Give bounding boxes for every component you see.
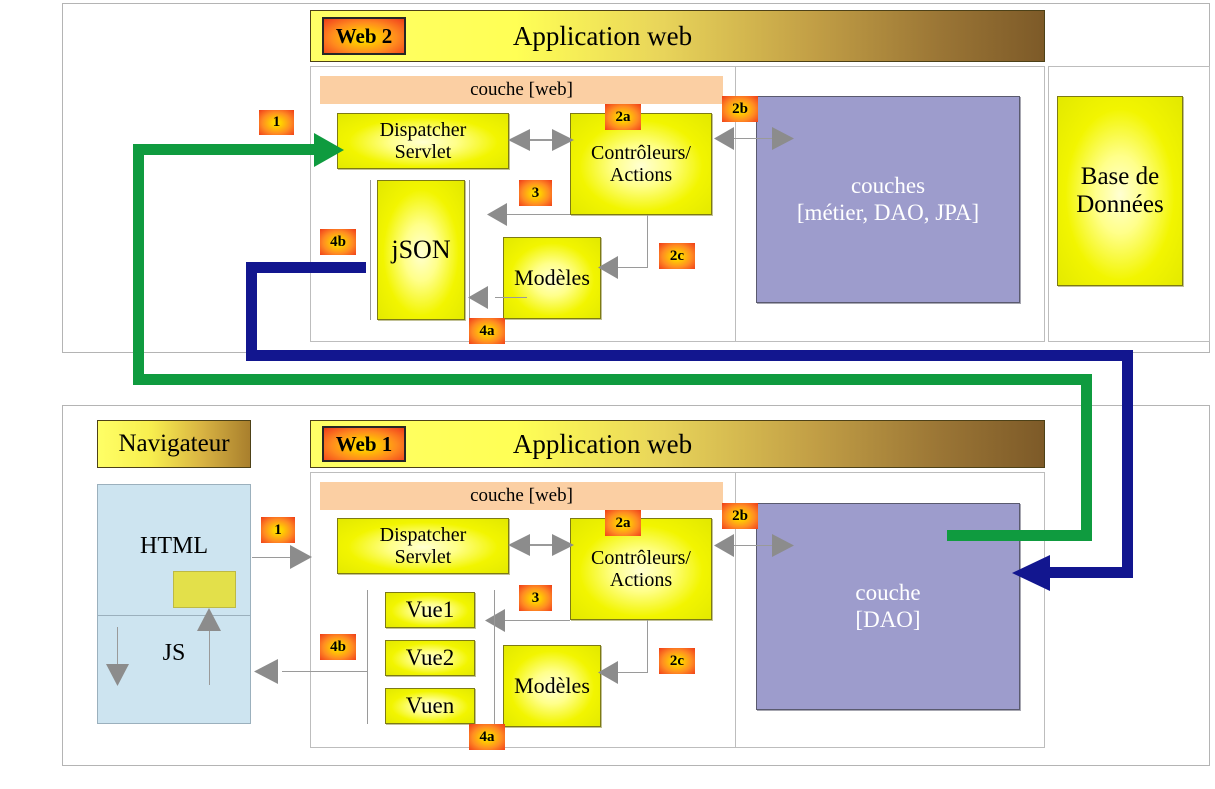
web2-arrowhead-models [598, 256, 618, 279]
web1-arrowhead-dao-right [772, 534, 794, 557]
web2-arrowhead-json-3 [487, 203, 507, 226]
web2-couche-web-bar: couche [web] [320, 76, 723, 104]
web1-app-header: Application web [310, 420, 1045, 468]
browser-inner-yellow-block [173, 571, 236, 608]
web1-badge-3: 3 [519, 585, 552, 611]
browser-divider [98, 615, 250, 616]
web2-conn-to-models [615, 267, 648, 268]
web2-badge-4b: 4b [320, 229, 356, 255]
browser-js-label: JS [98, 640, 250, 667]
web1-conn-controllers-down [647, 620, 648, 673]
green-route-seg-vertical-right [1081, 374, 1092, 540]
web1-dao-line1: couche [855, 580, 920, 606]
web1-arrowhead-models [598, 661, 618, 684]
web2-badge-2b: 2b [722, 96, 758, 122]
web2-controllers-actions: Contrôleurs/ Actions [570, 113, 712, 215]
web1-dispatcher-servlet: Dispatcher Servlet [337, 518, 509, 574]
web1-arrowhead-dispatcher [290, 545, 312, 569]
web1-arrowhead-vues-3 [485, 609, 505, 632]
browser-arrowhead-down-js [106, 664, 129, 686]
browser-html-label: HTML [98, 533, 250, 560]
blue-route-seg-to-dao [1046, 567, 1133, 578]
green-route-seg-horizontal-mid [133, 374, 1092, 385]
web2-badge-2a: 2a [605, 104, 641, 130]
web2-business-layer: couches [métier, DAO, JPA] [756, 96, 1020, 303]
web2-database-line2: Données [1076, 191, 1163, 219]
web2-app-header: Application web [310, 10, 1045, 62]
web2-badge-4a: 4a [469, 318, 505, 344]
web2-conn-models-json [495, 297, 527, 298]
web1-couche-web-bar: couche [web] [320, 482, 723, 510]
web1-tag: Web 1 [322, 426, 406, 462]
web2-tick-json-left [370, 180, 371, 320]
web2-badge-3: 3 [519, 180, 552, 206]
web2-arrowhead-business-right [772, 127, 794, 150]
web2-dispatcher-servlet: Dispatcher Servlet [337, 113, 509, 169]
web1-dao-line2: [DAO] [855, 607, 920, 633]
web1-conn-controllers-vues [502, 620, 570, 621]
web1-badge-2b: 2b [722, 503, 758, 529]
blue-route-seg-vertical-left [246, 262, 257, 361]
web2-app-title: Application web [311, 21, 1044, 52]
web1-arrowhead-to-dispatcher [508, 533, 530, 557]
web2-database: Base de Données [1057, 96, 1183, 286]
web1-models-box: Modèles [503, 645, 601, 727]
web1-controllers-line2: Actions [610, 569, 672, 591]
web1-controllers-line1: Contrôleurs/ [591, 547, 691, 569]
web2-json-box: jSON [377, 180, 465, 320]
web1-tick-vues-right [494, 590, 495, 724]
browser-title-bar: Navigateur [97, 420, 251, 468]
green-route-seg-dao-right [947, 530, 1092, 541]
web2-arrowhead-to-controllers [552, 128, 574, 152]
green-route-seg-vertical-left [133, 144, 144, 384]
web2-controllers-line1: Contrôleurs/ [591, 142, 691, 164]
web1-vue2: Vue2 [385, 640, 475, 676]
web1-controllers-actions: Contrôleurs/ Actions [570, 518, 712, 620]
web1-app-title: Application web [311, 429, 1044, 460]
web2-tag: Web 2 [322, 17, 406, 55]
web1-arrowhead-dao-left [714, 534, 734, 557]
web2-conn-controllers-down [647, 215, 648, 268]
web2-business-line1: couches [851, 173, 925, 199]
web1-arrowhead-js-4b [254, 659, 278, 684]
web2-conn-controllers-json [505, 214, 570, 215]
web2-badge-2c: 2c [659, 243, 695, 269]
web2-arrowhead-business-left [714, 127, 734, 150]
web2-database-line1: Base de [1081, 163, 1159, 191]
blue-route-seg-from-json [246, 262, 366, 273]
web2-arrowhead-to-dispatcher [508, 128, 530, 152]
web2-models-box: Modèles [503, 237, 601, 319]
web2-dispatcher-line2: Servlet [395, 141, 452, 163]
blue-route-seg-horizontal-bottom [246, 350, 1133, 361]
web1-badge-2c: 2c [659, 648, 695, 674]
web2-badge-1: 1 [259, 110, 294, 135]
web1-badge-1: 1 [261, 517, 295, 543]
web2-arrowhead-json-4a [468, 286, 488, 309]
web1-tick-vues-left [367, 590, 368, 724]
web1-badge-4b: 4b [320, 634, 356, 660]
web1-conn-vues-js [282, 671, 367, 672]
web1-badge-2a: 2a [605, 510, 641, 536]
web1-badge-4a: 4a [469, 724, 505, 750]
browser-arrowhead-up-html [197, 608, 221, 631]
web2-dispatcher-line1: Dispatcher [380, 119, 467, 141]
web2-business-line2: [métier, DAO, JPA] [797, 200, 979, 226]
web1-vue1: Vue1 [385, 592, 475, 628]
web1-vuen: Vuen [385, 688, 475, 724]
web1-arrowhead-to-controllers [552, 533, 574, 557]
diagram-canvas: Application web Web 2 couche [web] Dispa… [0, 0, 1215, 789]
web2-controllers-line2: Actions [610, 164, 672, 186]
green-route-arrowhead-dispatcher [314, 133, 344, 167]
web1-conn-html-dispatcher [252, 557, 292, 558]
web1-dispatcher-line1: Dispatcher [380, 524, 467, 546]
blue-route-arrowhead-dao [1012, 555, 1050, 591]
browser-conn-js-to-html [209, 628, 210, 685]
web1-conn-to-models [615, 672, 648, 673]
web1-dispatcher-line2: Servlet [395, 546, 452, 568]
green-route-seg-to-dispatcher [133, 144, 323, 155]
blue-route-seg-vertical-right [1122, 350, 1133, 578]
